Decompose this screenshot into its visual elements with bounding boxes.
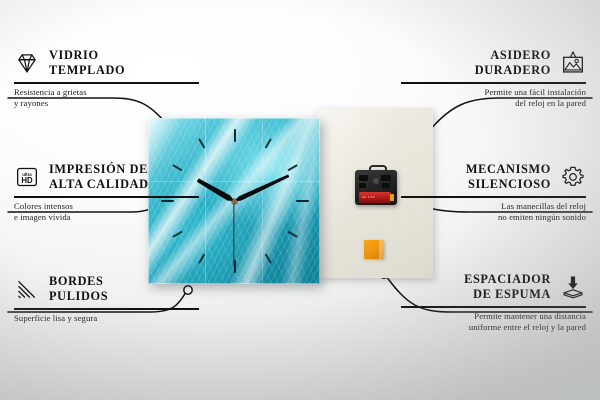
svg-text:HD: HD — [21, 176, 33, 185]
feature-title-line2: DE ESPUMA — [473, 287, 551, 301]
feature-divider — [14, 82, 199, 83]
feature-divider — [14, 196, 199, 197]
feature-title-line1: VIDRIO — [49, 48, 99, 62]
feature-title-line2: ALTA CALIDAD — [49, 177, 149, 191]
desc-line2: y rayones — [14, 98, 48, 108]
feature-description: Permite una fácil instalación del reloj … — [401, 87, 586, 110]
feature-title-line1: IMPRESIÓN DE — [49, 162, 148, 176]
feature-description: Colores intensos e imagen vívida — [14, 201, 199, 224]
movement-battery: AA 1.5V — [359, 192, 391, 203]
feature-divider — [401, 306, 586, 307]
foam-spacer-pad — [364, 240, 384, 259]
desc-line2: no emiten ningún sonido — [498, 212, 586, 222]
movement-slot — [359, 183, 366, 188]
feature-impresion-alta-calidad: ultra HD IMPRESIÓN DEALTA CALIDAD Colore… — [14, 162, 199, 224]
feature-asidero-duradero: ASIDERODURADERO Permite una fácil instal… — [401, 48, 586, 110]
feature-mecanismo-silencioso: MECANISMOSILENCIOSO Las manecillas del r… — [401, 162, 586, 224]
feature-title-line2: TEMPLADO — [49, 63, 125, 77]
feature-title-line2: DURADERO — [475, 63, 551, 77]
foam-spacer-highlight — [379, 240, 384, 259]
ultra-hd-badge-icon: ultra HD — [14, 164, 40, 190]
feature-divider — [14, 308, 199, 309]
desc-line1: Resistencia a grietas — [14, 87, 87, 97]
feature-description: Resistencia a grietas y rayones — [14, 87, 199, 110]
desc-line1: Permite mantener una distancia — [474, 311, 586, 321]
movement-slot — [381, 175, 391, 181]
feature-bordes-pulidos: BORDESPULIDOS Superficie lisa y segura — [14, 274, 199, 324]
feature-title-line1: MECANISMO — [466, 162, 551, 176]
movement-slot — [382, 183, 390, 188]
battery-label: AA 1.5V — [362, 195, 375, 199]
wall-hanger-frame-icon — [560, 50, 586, 76]
feature-description: Superficie lisa y segura — [14, 313, 199, 324]
desc-line2: e imagen vívida — [14, 212, 71, 222]
battery-positive-terminal — [390, 194, 394, 201]
diamond-icon — [14, 50, 40, 76]
clock-movement-mechanism: AA 1.5V — [355, 165, 397, 205]
feature-description: Permite mantener una distancia uniforme … — [401, 311, 586, 334]
desc-line2: uniforme entre el reloj y la pared — [469, 322, 586, 332]
desc-line1: Colores intensos — [14, 201, 73, 211]
feature-title-line1: ESPACIADOR — [464, 272, 551, 286]
feature-divider — [401, 82, 586, 83]
feature-vidrio-templado: VIDRIOTEMPLADO Resistencia a grietas y r… — [14, 48, 199, 110]
feature-title-line2: PULIDOS — [49, 289, 108, 303]
desc-line1: Permite una fácil instalación — [484, 87, 586, 97]
foam-spacer-icon — [560, 274, 586, 300]
desc-line1: Las manecillas del reloj — [501, 201, 586, 211]
feature-description: Las manecillas del reloj no emiten ningú… — [401, 201, 586, 224]
infographic-canvas: AA 1.5V — [0, 0, 600, 400]
movement-slot — [359, 175, 368, 181]
feature-espaciador-espuma: ESPACIADORDE ESPUMA Permite mantener una… — [401, 272, 586, 334]
movement-body: AA 1.5V — [355, 170, 397, 205]
polished-edge-icon — [14, 276, 40, 302]
movement-shaft — [373, 178, 379, 184]
feature-divider — [401, 196, 586, 197]
gear-icon — [560, 164, 586, 190]
desc-line2: del reloj en la pared — [515, 98, 586, 108]
desc-line1: Superficie lisa y segura — [14, 313, 97, 323]
feature-title-line1: ASIDERO — [490, 48, 551, 62]
feature-title-line2: SILENCIOSO — [468, 177, 551, 191]
feature-title-line1: BORDES — [49, 274, 103, 288]
